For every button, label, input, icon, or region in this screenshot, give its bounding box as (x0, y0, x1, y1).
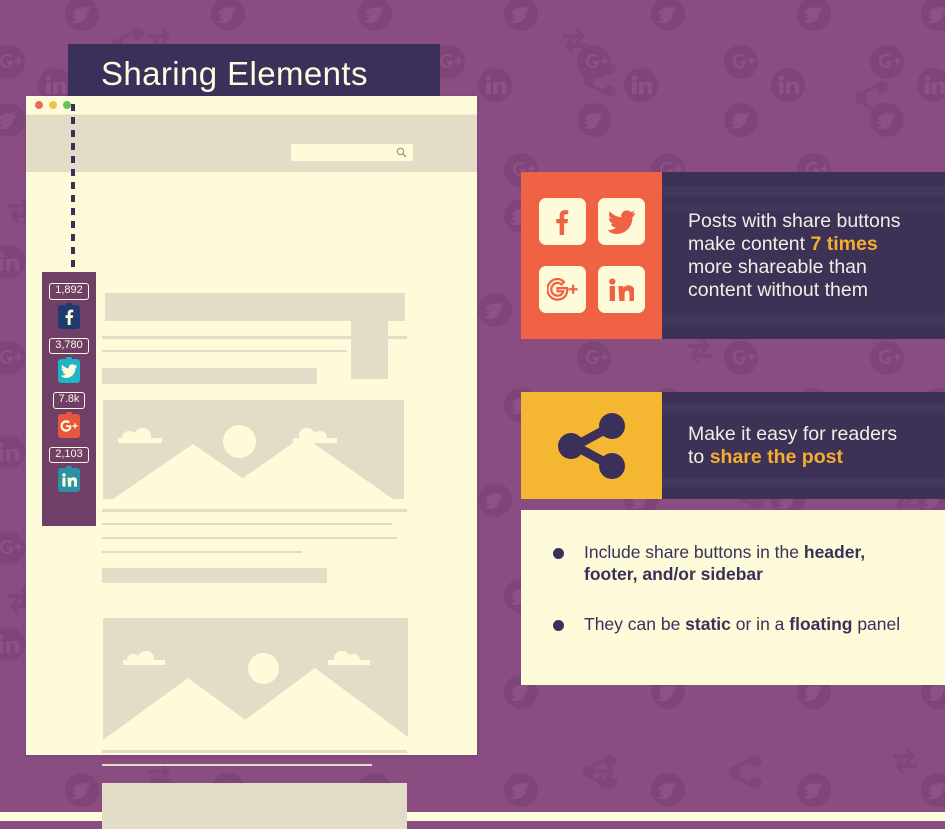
floating-share-sidebar: 1,892 3,780 7.8k 2,103 (42, 272, 96, 526)
twitter-icon[interactable] (58, 359, 80, 383)
bullet-2-suffix: panel (852, 614, 900, 634)
google-plus-icon[interactable] (58, 414, 80, 438)
stat-text-4: content without them (688, 279, 868, 301)
stat-text-2: make content (688, 233, 810, 255)
wire-subheading (102, 368, 317, 384)
share-tip-panel: Make it easy for readers to share the po… (521, 392, 945, 499)
wire-text-line (102, 350, 347, 352)
stat-line-4: content without them (688, 279, 945, 302)
window-close-dot[interactable] (35, 101, 43, 109)
share-text-block: Make it easy for readers to share the po… (662, 392, 945, 499)
linkedin-icon (609, 278, 634, 302)
share-count-twitter: 3,780 (49, 338, 89, 355)
page-title: Sharing Elements (101, 55, 368, 93)
wire-image-placeholder (103, 400, 404, 499)
share-text-1: Make it easy for readers (688, 423, 897, 445)
stat-text-1: Posts with share buttons (688, 210, 900, 232)
wire-footer-block (102, 783, 407, 829)
share-line-2: to share the post (688, 446, 945, 469)
bullet-text-2: They can be static or in a floating pane… (584, 614, 900, 636)
wire-text-line (102, 764, 372, 766)
google-plus-icon (547, 278, 578, 302)
bullet-2-bold-1: static (685, 614, 731, 634)
facebook-icon (554, 209, 570, 235)
stats-social-tiles (521, 172, 662, 339)
site-header-bar (26, 115, 477, 172)
bullet-1-prefix: Include share buttons in the (584, 542, 804, 562)
title-banner: Sharing Elements (68, 44, 440, 104)
twitter-tile[interactable] (598, 198, 645, 245)
wire-text-line (102, 523, 392, 525)
share-item-twitter[interactable]: 3,780 (49, 338, 89, 384)
share-text-2: to (688, 446, 710, 468)
bullet-dot-icon (553, 548, 564, 559)
stats-text-block: Posts with share buttons make content 7 … (662, 172, 945, 339)
google-plus-tile[interactable] (539, 266, 586, 313)
stat-line-1: Posts with share buttons (688, 210, 945, 233)
cloud-icon (118, 428, 162, 442)
wire-subheading (102, 568, 327, 583)
share-count-googleplus: 7.8k (53, 392, 86, 409)
share-nodes-icon (555, 413, 629, 479)
stat-line-2: make content 7 times (688, 233, 945, 256)
share-item-facebook[interactable]: 1,892 (49, 283, 89, 329)
stats-panel: Posts with share buttons make content 7 … (521, 172, 945, 339)
dashed-connector-line (71, 104, 75, 272)
facebook-tile[interactable] (539, 198, 586, 245)
cloud-icon (123, 651, 165, 665)
window-minimize-dot[interactable] (49, 101, 57, 109)
list-item: Include share buttons in the header, foo… (553, 542, 923, 585)
window-maximize-dot[interactable] (63, 101, 71, 109)
share-highlight: share the post (710, 446, 843, 468)
twitter-icon (607, 210, 636, 234)
wire-image-placeholder (103, 618, 408, 740)
share-line-1: Make it easy for readers (688, 423, 945, 446)
share-count-linkedin: 2,103 (49, 447, 89, 464)
bullet-2-mid: or in a (731, 614, 789, 634)
bullet-2-bold-2: floating (789, 614, 852, 634)
share-item-googleplus[interactable]: 7.8k (53, 392, 86, 438)
linkedin-tile[interactable] (598, 266, 645, 313)
search-input[interactable] (291, 144, 413, 161)
bullet-dot-icon (553, 620, 564, 631)
cloud-icon (293, 428, 337, 442)
wire-text-line (102, 551, 302, 553)
wire-text-line (102, 537, 397, 539)
wire-text-line (102, 509, 407, 512)
share-icon-box (521, 392, 662, 499)
stat-line-3: more shareable than (688, 256, 945, 279)
cloud-icon (328, 651, 370, 665)
linkedin-icon[interactable] (58, 468, 80, 492)
header-separator (26, 172, 477, 180)
stat-highlight: 7 times (810, 233, 877, 255)
facebook-icon[interactable] (58, 305, 80, 329)
bullets-panel: Include share buttons in the header, foo… (521, 510, 945, 685)
wire-text-line (102, 750, 407, 753)
stat-text-3: more shareable than (688, 256, 867, 278)
share-count-facebook: 1,892 (49, 283, 89, 300)
list-item: They can be static or in a floating pane… (553, 614, 923, 636)
search-icon (396, 147, 407, 158)
bullet-text-1: Include share buttons in the header, foo… (584, 542, 923, 585)
wire-sidebar-block (351, 293, 388, 379)
share-item-linkedin[interactable]: 2,103 (49, 447, 89, 493)
browser-titlebar (26, 96, 477, 115)
bullet-2-prefix: They can be (584, 614, 685, 634)
